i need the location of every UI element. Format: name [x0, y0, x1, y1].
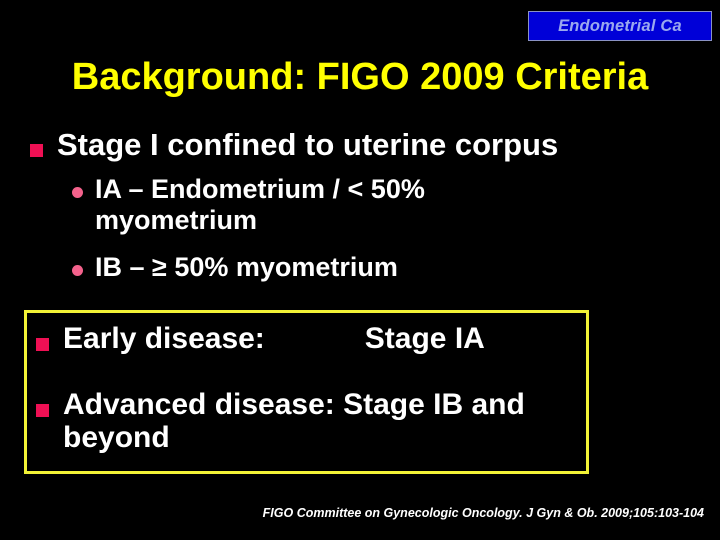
- bullet-stage-i-text: Stage I confined to uterine corpus: [57, 128, 558, 162]
- square-bullet-icon: [30, 144, 43, 157]
- slide-title: Background: FIGO 2009 Criteria: [0, 56, 720, 99]
- topic-badge: Endometrial Ca: [528, 11, 712, 41]
- highlight-row-advanced-disease: Advanced disease: Stage IB and beyond: [36, 388, 586, 454]
- square-bullet-icon: [36, 338, 49, 351]
- bullet-stage-ib: IB – ≥ 50% myometrium: [72, 252, 592, 283]
- advanced-disease-label: Advanced disease: Stage IB: [63, 388, 463, 421]
- round-bullet-icon: [72, 265, 83, 276]
- topic-badge-label: Endometrial Ca: [558, 17, 682, 36]
- bullet-stage-ib-text: IB – ≥ 50% myometrium: [95, 252, 398, 283]
- highlight-row-early-disease: Early disease: Stage IA: [36, 322, 581, 355]
- tab-spacer: [265, 322, 365, 355]
- round-bullet-icon: [72, 187, 83, 198]
- square-bullet-icon: [36, 404, 49, 417]
- bullet-stage-ia: IA – Endometrium / < 50% myometrium: [72, 174, 572, 237]
- presentation-slide: Endometrial Ca Background: FIGO 2009 Cri…: [0, 0, 720, 540]
- early-disease-label: Early disease:: [63, 322, 265, 355]
- bullet-stage-ia-text: IA – Endometrium / < 50% myometrium: [95, 174, 572, 237]
- bullet-stage-i: Stage I confined to uterine corpus: [30, 128, 700, 162]
- early-disease-value: Stage IA: [365, 322, 485, 355]
- footer-citation: FIGO Committee on Gynecologic Oncology. …: [0, 506, 720, 520]
